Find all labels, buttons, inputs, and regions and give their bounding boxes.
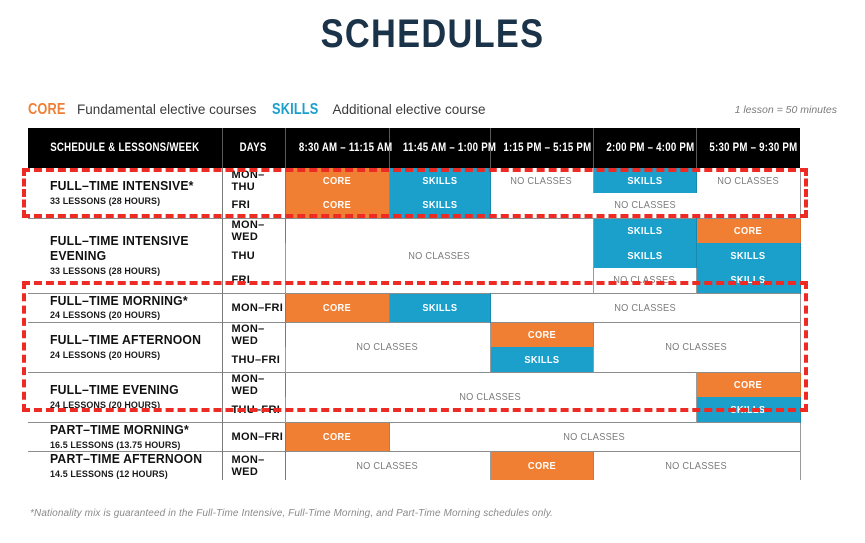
slot-none: NO CLASSES: [285, 322, 490, 372]
slot-skills: SKILLS: [389, 168, 490, 193]
schedule-title: PART–TIME AFTERNOON: [50, 452, 211, 467]
days-cell: MON–FRI: [222, 293, 285, 322]
table-row: FULL–TIME AFTERNOON 24 LESSONS (20 HOURS…: [28, 322, 800, 347]
slot-none: NO CLASSES: [593, 322, 800, 372]
days-cell: THU: [222, 243, 285, 268]
days-cell: THU–FRI: [222, 397, 285, 422]
schedule-lessons: 33 LESSONS (28 HOURS): [50, 266, 211, 277]
schedule-lessons: 24 LESSONS (20 HOURS): [50, 310, 211, 321]
slot-none: NO CLASSES: [490, 293, 800, 322]
header-slot-5: 5:30 PM – 9:30 PM: [696, 128, 800, 168]
slot-core: CORE: [285, 422, 389, 451]
schedule-name-cell: FULL–TIME AFTERNOON 24 LESSONS (20 HOURS…: [28, 322, 222, 372]
slot-core: CORE: [285, 293, 389, 322]
legend-skills-tag: SKILLS: [272, 101, 318, 119]
slot-core: CORE: [285, 193, 389, 218]
footnote: *Nationality mix is guaranteed in the Fu…: [30, 508, 553, 519]
header-slot-1: 8:30 AM – 11:15 AM: [285, 128, 389, 168]
days-cell: FRI: [222, 193, 285, 218]
slot-none: NO CLASSES: [593, 268, 696, 293]
schedule-name-cell: FULL–TIME INTENSIVE* 33 LESSONS (28 HOUR…: [28, 168, 222, 218]
days-cell: MON–WED: [222, 452, 285, 481]
schedule-title: FULL–TIME EVENING: [50, 383, 211, 398]
slot-skills: SKILLS: [696, 243, 800, 268]
legend-core-text: Fundamental elective courses: [77, 102, 256, 117]
slot-core: CORE: [696, 218, 800, 243]
schedule-table-wrapper: SCHEDULE & LESSONS/WEEK DAYS 8:30 AM – 1…: [28, 128, 800, 480]
table-row: PART–TIME AFTERNOON 14.5 LESSONS (12 HOU…: [28, 452, 800, 481]
days-cell: THU–FRI: [222, 347, 285, 372]
slot-skills: SKILLS: [593, 243, 696, 268]
slot-core: CORE: [285, 168, 389, 193]
legend-skills-text: Additional elective course: [332, 102, 485, 117]
schedule-name-cell: FULL–TIME INTENSIVE EVENING 33 LESSONS (…: [28, 218, 222, 293]
table-header: SCHEDULE & LESSONS/WEEK DAYS 8:30 AM – 1…: [28, 128, 800, 168]
schedule-title: FULL–TIME AFTERNOON: [50, 333, 211, 348]
days-cell: MON–THU: [222, 168, 285, 193]
schedule-title: FULL–TIME INTENSIVE EVENING: [50, 234, 211, 264]
schedule-table: SCHEDULE & LESSONS/WEEK DAYS 8:30 AM – 1…: [28, 128, 801, 480]
slot-none: NO CLASSES: [490, 168, 593, 193]
table-body: FULL–TIME INTENSIVE* 33 LESSONS (28 HOUR…: [28, 168, 800, 480]
schedule-title: FULL–TIME INTENSIVE*: [50, 179, 211, 194]
slot-core: CORE: [696, 372, 800, 397]
schedule-lessons: 33 LESSONS (28 HOURS): [50, 196, 211, 207]
slot-none: NO CLASSES: [285, 452, 490, 481]
slot-none: NO CLASSES: [696, 168, 800, 193]
table-row: FULL–TIME INTENSIVE* 33 LESSONS (28 HOUR…: [28, 168, 800, 193]
days-cell: MON–WED: [222, 322, 285, 347]
slot-none: NO CLASSES: [490, 193, 800, 218]
slot-skills: SKILLS: [389, 293, 490, 322]
page-title: SCHEDULES: [61, 0, 805, 54]
lesson-duration-note: 1 lesson = 50 minutes: [735, 104, 837, 116]
slot-skills: SKILLS: [389, 193, 490, 218]
header-slot-2: 11:45 AM – 1:00 PM: [389, 128, 490, 168]
header-slot-3: 1:15 PM – 5:15 PM: [490, 128, 593, 168]
header-days: DAYS: [222, 128, 285, 168]
schedule-name-cell: PART–TIME MORNING* 16.5 LESSONS (13.75 H…: [28, 422, 222, 451]
header-schedule: SCHEDULE & LESSONS/WEEK: [28, 128, 222, 168]
days-cell: MON–WED: [222, 218, 285, 243]
schedule-lessons: 14.5 LESSONS (12 HOURS): [50, 469, 211, 480]
slot-none: NO CLASSES: [389, 422, 800, 451]
slot-skills: SKILLS: [593, 218, 696, 243]
slot-skills: SKILLS: [696, 397, 800, 422]
slot-skills: SKILLS: [490, 347, 593, 372]
schedule-name-cell: FULL–TIME MORNING* 24 LESSONS (20 HOURS): [28, 293, 222, 322]
header-row: SCHEDULE & LESSONS/WEEK DAYS 8:30 AM – 1…: [28, 128, 800, 168]
slot-skills: SKILLS: [593, 168, 696, 193]
table-row: FULL–TIME INTENSIVE EVENING 33 LESSONS (…: [28, 218, 800, 243]
schedule-lessons: 24 LESSONS (20 HOURS): [50, 400, 211, 411]
schedule-lessons: 16.5 LESSONS (13.75 HOURS): [50, 440, 211, 451]
legend-core-tag: CORE: [28, 101, 66, 119]
slot-core: CORE: [490, 452, 593, 481]
schedule-name-cell: PART–TIME AFTERNOON 14.5 LESSONS (12 HOU…: [28, 452, 222, 481]
slot-none: NO CLASSES: [285, 218, 593, 293]
legend: CORE Fundamental elective courses SKILLS…: [28, 98, 837, 122]
days-cell: MON–FRI: [222, 422, 285, 451]
schedule-title: FULL–TIME MORNING*: [50, 294, 211, 309]
header-slot-4: 2:00 PM – 4:00 PM: [593, 128, 696, 168]
slot-none: NO CLASSES: [593, 452, 800, 481]
schedule-name-cell: FULL–TIME EVENING 24 LESSONS (20 HOURS): [28, 372, 222, 422]
table-row: FULL–TIME MORNING* 24 LESSONS (20 HOURS)…: [28, 293, 800, 322]
schedule-title: PART–TIME MORNING*: [50, 423, 211, 438]
table-row: FULL–TIME EVENING 24 LESSONS (20 HOURS) …: [28, 372, 800, 397]
table-row: PART–TIME MORNING* 16.5 LESSONS (13.75 H…: [28, 422, 800, 451]
slot-none: NO CLASSES: [285, 372, 696, 422]
days-cell: FRI: [222, 268, 285, 293]
days-cell: MON–WED: [222, 372, 285, 397]
slot-core: CORE: [490, 322, 593, 347]
schedule-lessons: 24 LESSONS (20 HOURS): [50, 350, 211, 361]
legend-items: CORE Fundamental elective courses SKILLS…: [28, 101, 502, 119]
slot-skills: SKILLS: [696, 268, 800, 293]
